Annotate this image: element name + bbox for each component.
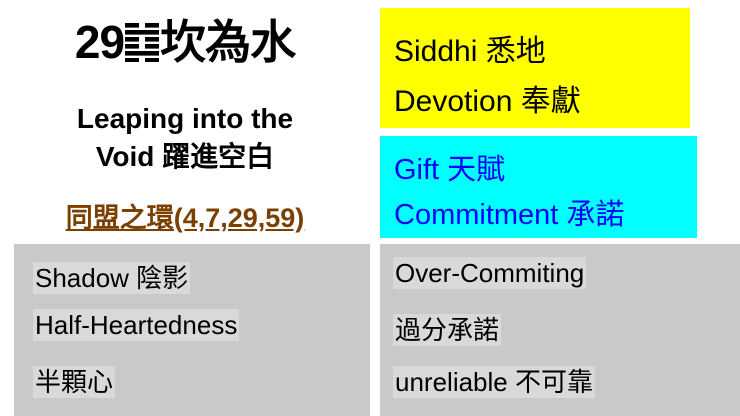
gift-line-2: Commitment 承諾 xyxy=(394,191,624,233)
left-column: 29 坎為水 Leaping into the Void 躍進空白 同盟之環(4… xyxy=(0,0,370,416)
subtitle-line-2: Void 躍進空白 xyxy=(0,138,370,176)
right-column: Siddhi 悉地 Devotion 奉獻 Gift 天賦 Commitment… xyxy=(380,0,740,416)
hexagram-29-kan-symbol xyxy=(125,22,159,62)
shadow-right-line-3: unreliable 不可靠 xyxy=(393,362,595,399)
hexagram-subtitle: Leaping into the Void 躍進空白 xyxy=(0,100,370,176)
shadow-panel-right: Over-Commiting 過分承諾 unreliable 不可靠 xyxy=(380,244,740,416)
siddhi-line-2: Devotion 奉獻 xyxy=(394,76,581,120)
hexagram-chinese-name: 坎為水 xyxy=(160,16,295,68)
ring-label: 同盟之環(4,7,29,59) xyxy=(0,196,370,235)
shadow-left-line-1: Shadow 陰影 xyxy=(33,258,190,295)
shadow-right-line-2: 過分承諾 xyxy=(393,310,501,347)
subtitle-line-1: Leaping into the xyxy=(0,100,370,138)
gift-line-1: Gift 天賦 xyxy=(394,146,505,188)
shadow-left-line-3: 半顆心 xyxy=(33,362,115,399)
hexagram-number: 29 xyxy=(75,16,124,68)
shadow-left-line-2: Half-Heartedness xyxy=(33,310,239,341)
siddhi-line-1: Siddhi 悉地 xyxy=(394,26,546,70)
gene-keys-hexagram-card: 29 坎為水 Leaping into the Void 躍進空白 同盟之環(4… xyxy=(0,0,740,416)
hexagram-title: 29 坎為水 xyxy=(0,18,370,66)
gift-panel: Gift 天賦 Commitment 承諾 xyxy=(380,136,697,238)
shadow-right-line-1: Over-Commiting xyxy=(393,258,586,289)
shadow-panel-left: Shadow 陰影 Half-Heartedness 半顆心 xyxy=(14,244,370,416)
siddhi-panel: Siddhi 悉地 Devotion 奉獻 xyxy=(380,8,690,128)
